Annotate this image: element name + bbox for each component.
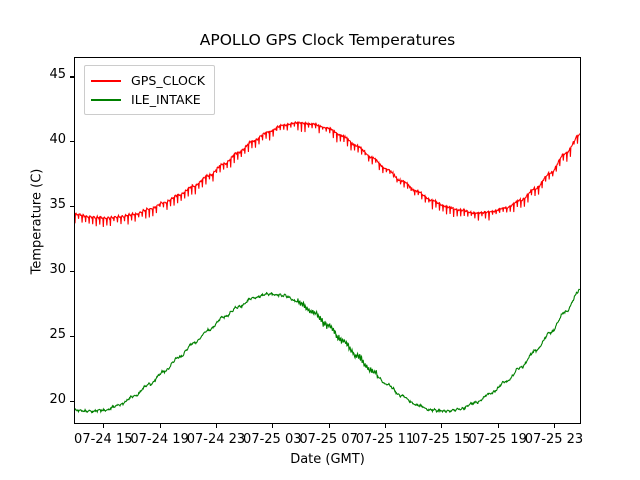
x-tick-label: 07-25 23 — [509, 432, 599, 447]
legend-item-gps-clock: GPS_CLOCK — [91, 71, 205, 90]
y-tick-label: 30 — [6, 262, 66, 277]
line-ile-intake — [75, 289, 580, 412]
matplotlib-figure: APOLLO GPS Clock Temperatures Temperatur… — [0, 0, 640, 480]
y-tick-label: 40 — [6, 132, 66, 147]
legend-label: ILE_INTAKE — [131, 92, 201, 107]
x-tick-mark — [160, 424, 161, 428]
y-tick-label: 45 — [6, 67, 66, 82]
legend-item-ile-intake: ILE_INTAKE — [91, 90, 205, 109]
x-tick-mark — [385, 424, 386, 428]
x-tick-mark — [272, 424, 273, 428]
x-axis-label: Date (GMT) — [74, 452, 581, 467]
legend-color-swatch — [91, 99, 121, 101]
x-tick-mark — [498, 424, 499, 428]
legend-label: GPS_CLOCK — [131, 73, 205, 88]
y-axis-label: Temperature (C) — [30, 122, 45, 322]
legend: GPS_CLOCKILE_INTAKE — [84, 65, 215, 115]
page-title: APOLLO GPS Clock Temperatures — [74, 31, 581, 49]
line-gps-clock — [75, 122, 580, 227]
x-tick-mark — [441, 424, 442, 428]
x-tick-mark — [216, 424, 217, 428]
y-tick-label: 35 — [6, 197, 66, 212]
x-tick-mark — [103, 424, 104, 428]
legend-color-swatch — [91, 80, 121, 82]
x-tick-mark — [329, 424, 330, 428]
x-tick-mark — [554, 424, 555, 428]
y-tick-label: 25 — [6, 327, 66, 342]
y-tick-label: 20 — [6, 392, 66, 407]
